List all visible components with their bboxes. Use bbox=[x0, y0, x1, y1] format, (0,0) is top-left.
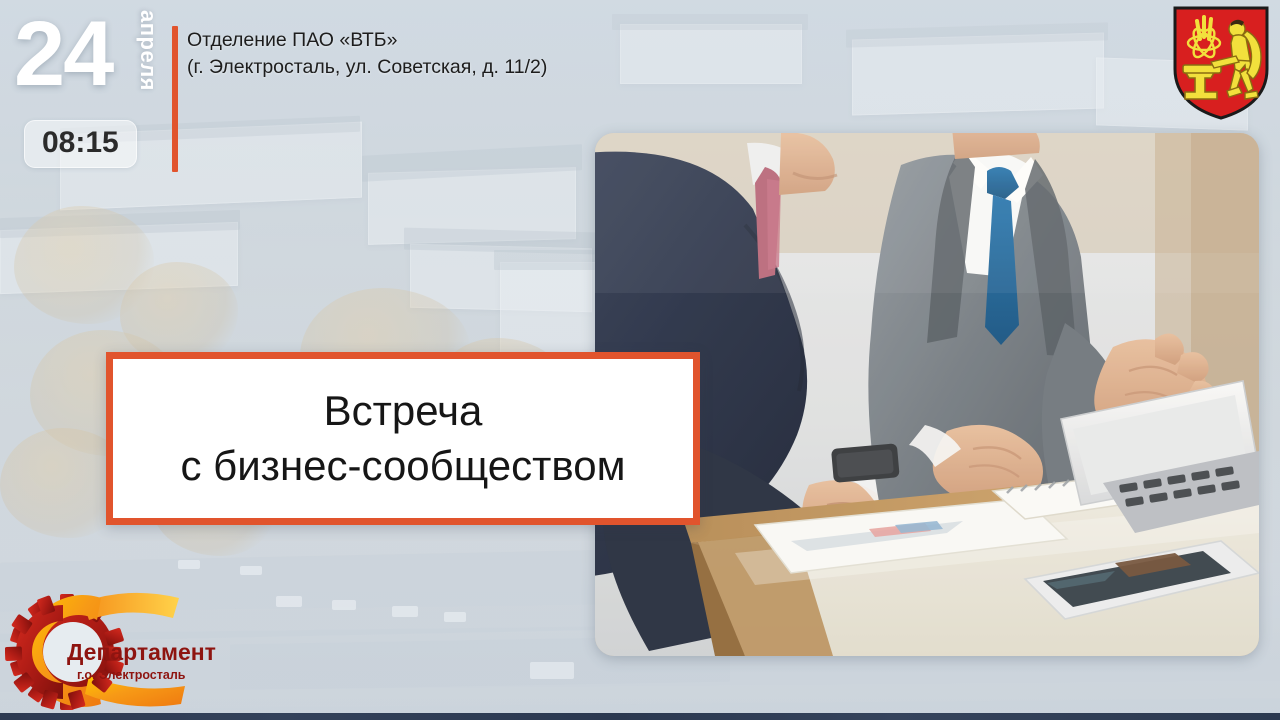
event-title-line1: Встреча bbox=[324, 384, 483, 439]
broadcast-time-badge: 08:15 bbox=[24, 120, 137, 168]
department-logo: Департамент г.о. Электросталь bbox=[5, 590, 230, 710]
header-location-line1: Отделение ПАО «ВТБ» bbox=[187, 27, 547, 54]
broadcast-date-month: апреля bbox=[133, 10, 161, 160]
broadcast-date-day: 24 bbox=[14, 8, 112, 100]
header-location: Отделение ПАО «ВТБ» (г. Электросталь, ул… bbox=[187, 27, 547, 81]
accent-bar bbox=[172, 26, 178, 172]
coat-of-arms-icon bbox=[1171, 5, 1271, 121]
event-title-line2: с бизнес-сообществом bbox=[181, 439, 626, 494]
bottom-rule bbox=[0, 713, 1280, 720]
event-title-card: Встреча с бизнес-сообществом bbox=[106, 352, 700, 525]
broadcast-slide: 24 апреля 08:15 Отделение ПАО «ВТБ» (г. … bbox=[0, 0, 1280, 720]
event-title-inner: Встреча с бизнес-сообществом bbox=[113, 359, 693, 518]
header-location-line2: (г. Электросталь, ул. Советская, д. 11/2… bbox=[187, 54, 547, 81]
department-logo-subtitle: г.о. Электросталь bbox=[77, 668, 186, 682]
department-logo-name: Департамент bbox=[67, 639, 216, 665]
